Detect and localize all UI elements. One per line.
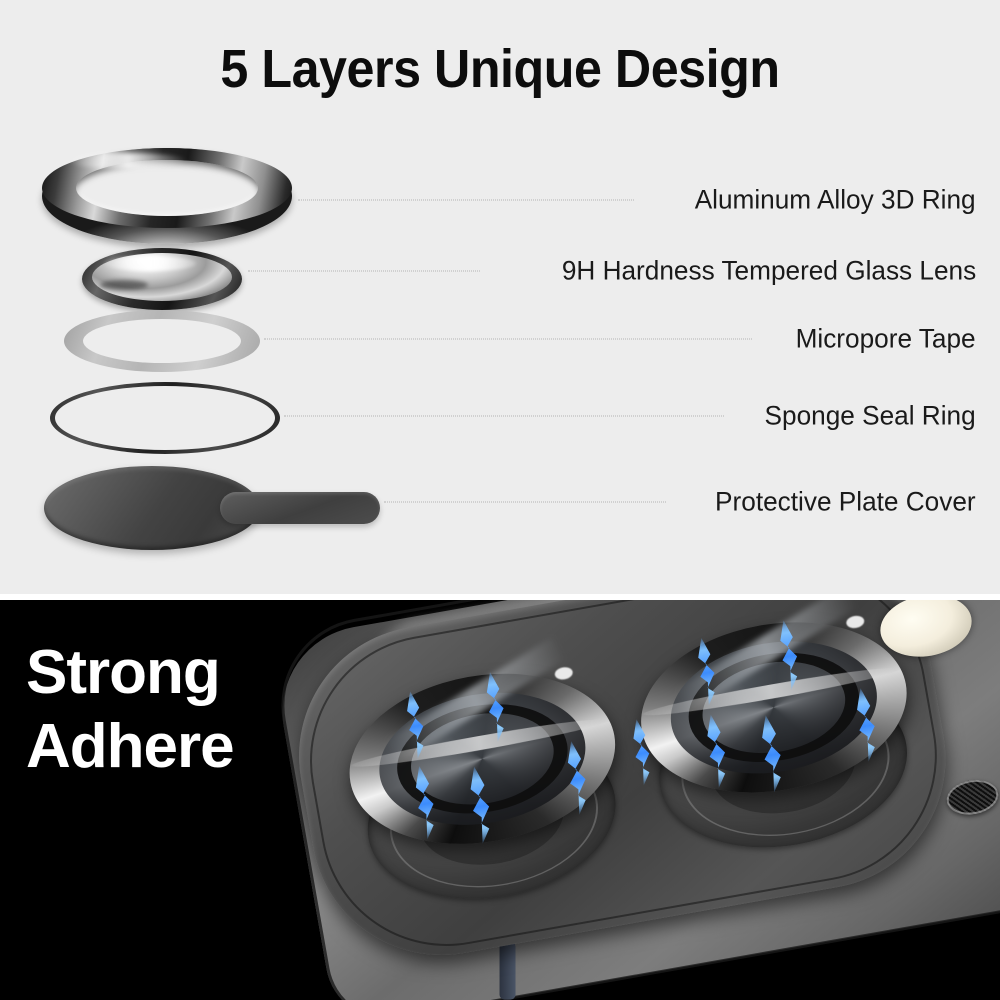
phone-side-button [500,942,516,1000]
layer-label-tempered-glass-lens: 9H Hardness Tempered Glass Lens [562,256,976,287]
leader-line-aluminum-alloy-3d-ring [298,200,634,201]
layer-art-sponge-seal-ring [50,382,280,454]
ring-highlight [68,153,188,169]
plate-pull-tab [220,492,380,524]
layer-label-aluminum-alloy-3d-ring: Aluminum Alloy 3D Ring [695,185,976,216]
leader-line-protective-plate-cover [384,502,666,503]
protector-notch [554,666,574,681]
page-title: 5 Layers Unique Design [35,38,965,100]
layer-label-protective-plate-cover: Protective Plate Cover [715,487,976,518]
layer-art-micropore-tape [64,310,260,372]
layer-label-sponge-seal-ring: Sponge Seal Ring [765,401,976,432]
strong-adhere-panel: Strong Adhere [0,600,1000,1000]
strong-adhere-headline: Strong Adhere [26,636,356,784]
sponge-aperture [55,386,275,450]
protector-notch [845,614,865,629]
ring-aperture [76,160,258,216]
tape-aperture [83,319,241,363]
headline-line-1: Strong [26,636,356,710]
glass-reflection-shadow [100,280,148,290]
leader-line-micropore-tape [264,339,752,340]
glass-specular-highlight [104,256,196,271]
protector-ring-left [327,604,637,914]
layers-panel: 5 Layers Unique Design Aluminum Alloy 3D… [0,0,1000,594]
layer-art-protective-plate-cover [44,466,380,550]
layer-label-micropore-tape: Micropore Tape [796,324,976,355]
infographic-page: 5 Layers Unique Design Aluminum Alloy 3D… [0,0,1000,1000]
leader-line-sponge-seal-ring [284,416,724,417]
phone-illustration [266,600,1000,1000]
leader-line-tempered-glass-lens [248,271,480,272]
layer-art-aluminum-alloy-3d-ring [42,148,292,244]
headline-line-2: Adhere [26,710,356,784]
layer-art-tempered-glass-lens [82,248,242,310]
